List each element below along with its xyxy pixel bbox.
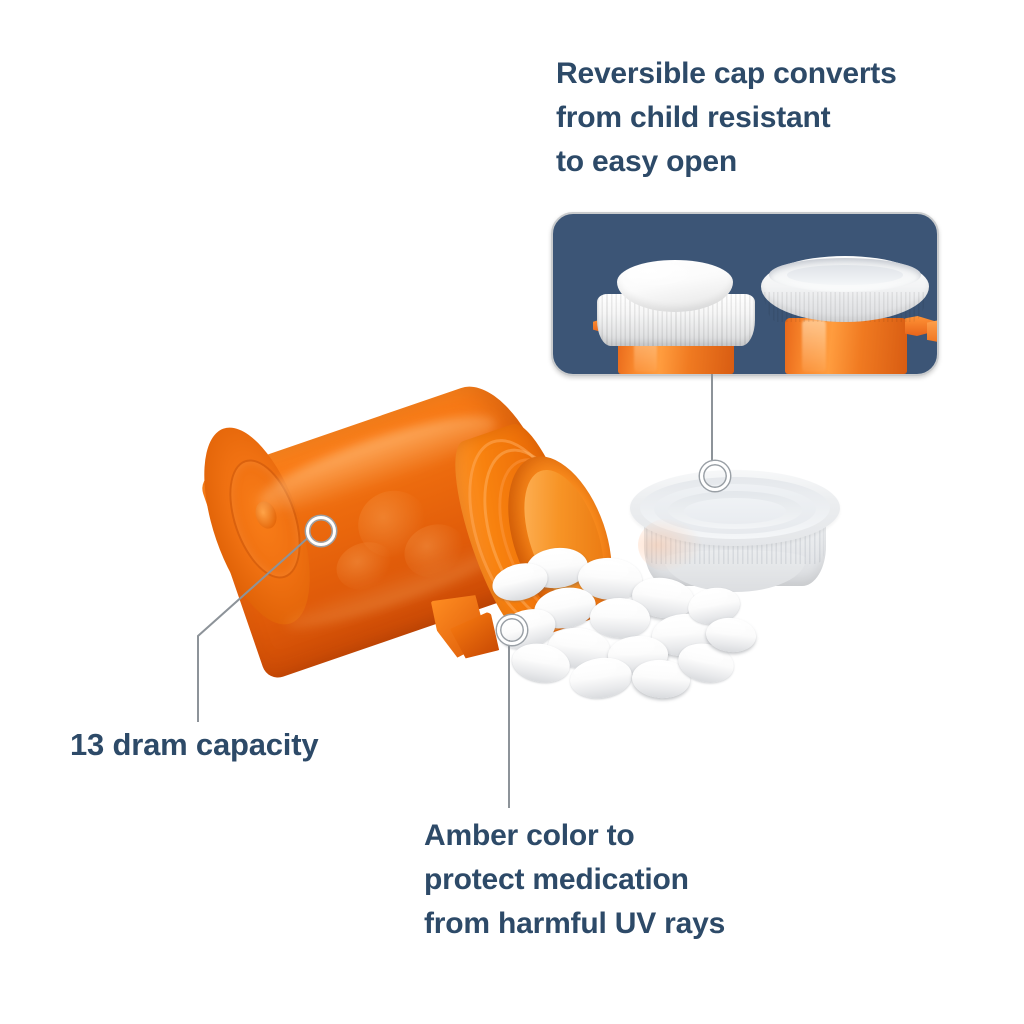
callout-label-capacity: 13 dram capacity <box>70 724 318 766</box>
cap-bowl-inverted <box>761 256 929 322</box>
callout-marker-reversible-cap[interactable] <box>700 461 730 491</box>
cap-inner-ring-4 <box>684 498 786 524</box>
callout-marker-amber-color[interactable] <box>497 615 527 645</box>
cap-bowl-rim <box>769 258 921 292</box>
inset-panel-content <box>553 214 937 374</box>
bottle-top-child-resistant <box>595 254 757 374</box>
bottle-top-easy-open <box>761 248 931 374</box>
infographic-canvas: Reversible cap converts from child resis… <box>0 0 1024 1024</box>
bottle-neck-highlight <box>802 320 826 372</box>
callout-label-reversible-cap: Reversible cap converts from child resis… <box>556 52 897 184</box>
spilled-pills-group <box>492 536 782 716</box>
callout-marker-capacity[interactable] <box>306 516 336 546</box>
inset-panel-reversible-cap-demo <box>551 212 939 376</box>
cap-bowl-ribs <box>764 292 926 322</box>
callout-label-amber-color: Amber color to protect medication from h… <box>424 814 725 946</box>
